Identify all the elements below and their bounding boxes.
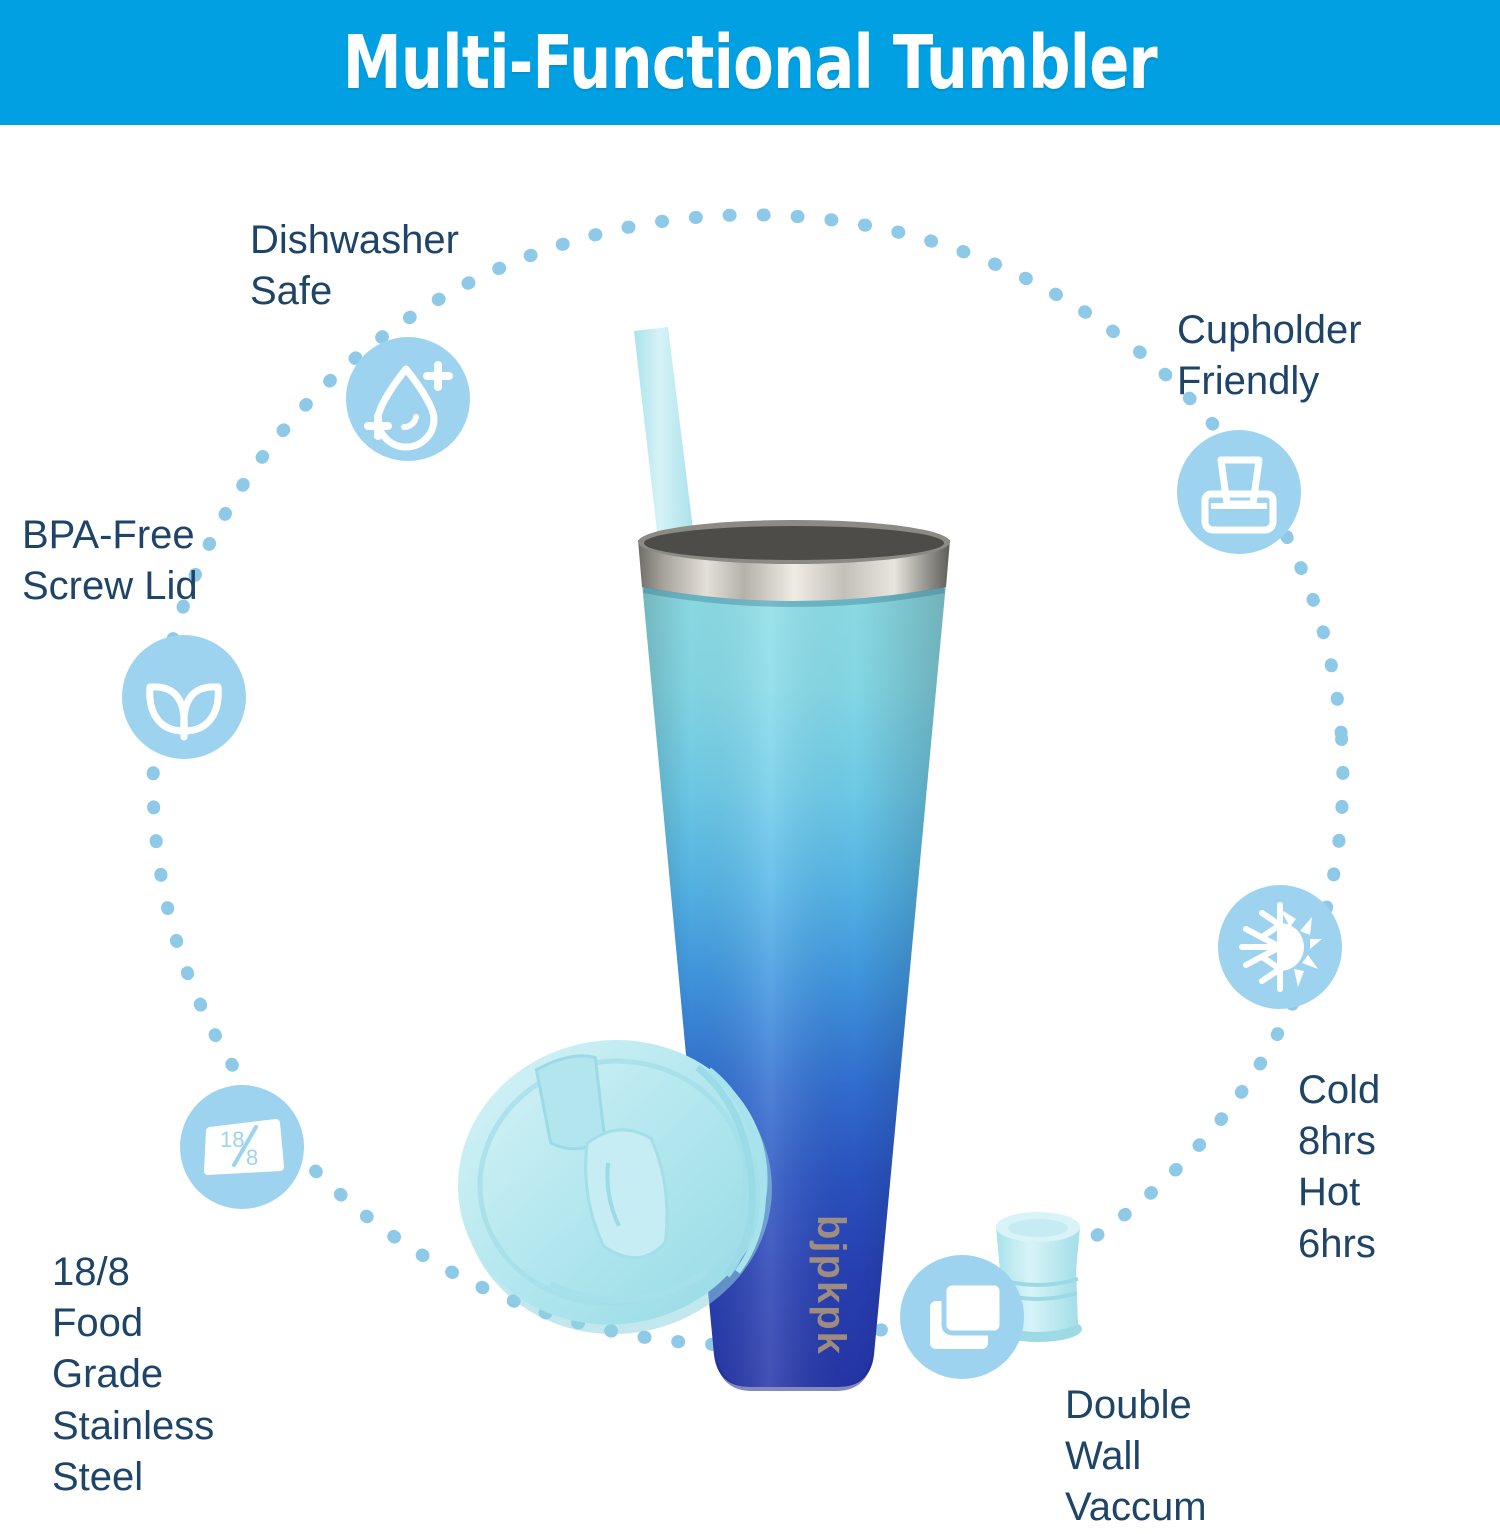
double-layer-icon: [900, 1255, 1024, 1379]
feature-label-double-wall: Double Wall Vaccum: [1065, 1380, 1207, 1534]
steel-grade-badge-icon: 18 8: [180, 1085, 304, 1209]
feature-label-dishwasher: Dishwasher Safe: [250, 215, 459, 317]
product-photo: bjpkpk: [400, 315, 1140, 1445]
infographic-stage: bjpkpk: [0, 125, 1500, 1470]
snowflake-sun-icon: [1218, 885, 1342, 1009]
stainless-steel-rim: [638, 520, 950, 607]
feature-bpa-free: BPA-Free Screw Lid: [22, 510, 198, 612]
cup-in-holder-icon: [1177, 430, 1301, 554]
svg-text:bjpkpk: bjpkpk: [809, 1215, 853, 1356]
water-drop-sparkle-icon: [346, 337, 470, 461]
feature-label-cupholder: Cupholder Friendly: [1177, 305, 1362, 407]
page-title: Multi-Functional Tumbler: [343, 20, 1157, 106]
leaf-sprout-icon: [122, 635, 246, 759]
feature-label-temperature: Cold 8hrs Hot 6hrs: [1298, 1065, 1380, 1270]
steel-grade-top-number: 18: [220, 1127, 244, 1152]
feature-dishwasher-safe: Dishwasher Safe: [250, 215, 459, 317]
feature-label-stainless-steel: 18/8 Food Grade Stainless Steel: [52, 1247, 214, 1503]
feature-label-bpa-free: BPA-Free Screw Lid: [22, 510, 198, 612]
brand-logo-text: bjpkpk: [809, 1215, 853, 1356]
header-banner: Multi-Functional Tumbler: [0, 0, 1500, 125]
steel-grade-bottom-number: 8: [246, 1145, 258, 1170]
feature-cupholder-friendly: Cupholder Friendly: [1177, 305, 1362, 407]
